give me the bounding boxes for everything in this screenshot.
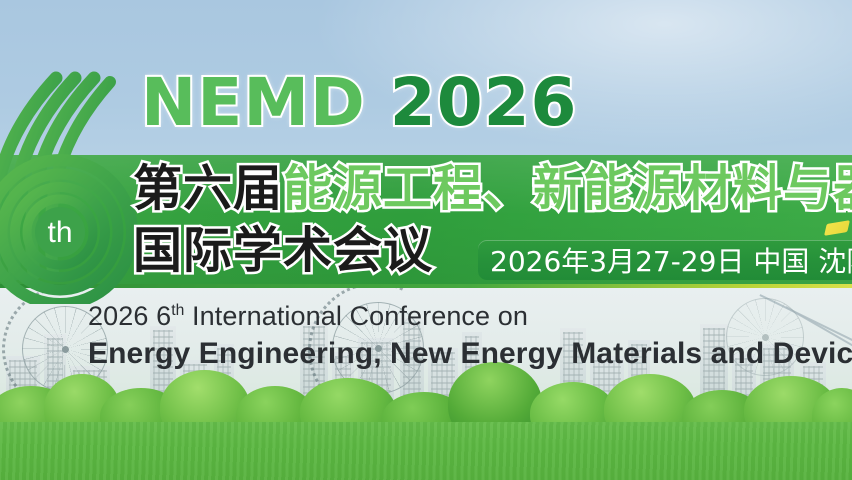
english-title-line1: 2026 6th International Conference on — [88, 303, 528, 330]
english-conference-label: International Conference on — [184, 301, 528, 331]
english-year-edition: 2026 6 — [88, 301, 171, 331]
date-location-text: 2026年3月27-29日 中国 沈阳 — [490, 240, 852, 280]
chinese-title-line2: 国际学术会议 — [133, 226, 433, 275]
chinese-title-line1: 第六届能源工程、新能源材料与器件 — [133, 164, 852, 213]
title-acronym: NEMD — [141, 64, 366, 141]
chinese-topic-label: 能源工程、新能源材料与器件 — [283, 160, 852, 217]
svg-text:th: th — [47, 216, 72, 249]
date-location-badge: 2026年3月27-29日 中国 沈阳 — [478, 240, 852, 280]
english-title-line2: Energy Engineering, New Energy Materials… — [88, 339, 852, 369]
ordinal-superscript: th — [171, 302, 184, 319]
page-title: NEMD 2026 — [141, 70, 577, 136]
grass-foreground — [0, 422, 852, 480]
conference-banner: th NEMD 2026 第六届能源工程、新能源材料与器件 国际学术会议 202… — [0, 0, 852, 480]
title-year: 2026 — [390, 64, 578, 141]
chinese-edition-label: 第六届 — [133, 160, 283, 217]
